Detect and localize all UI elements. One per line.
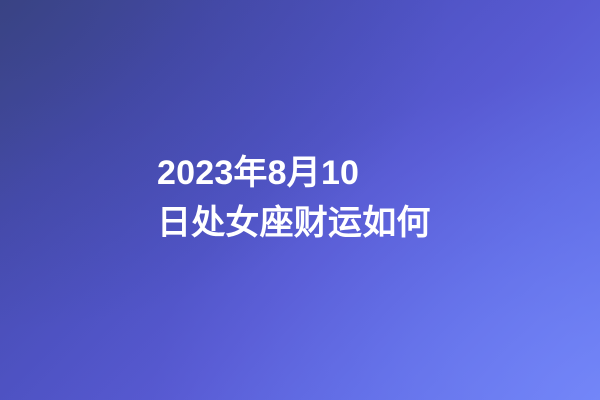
page-title: 2023年8月10 日处女座财运如何 xyxy=(157,148,457,248)
cover-card: 2023年8月10 日处女座财运如何 xyxy=(0,0,600,400)
headline-block: 2023年8月10 日处女座财运如何 xyxy=(157,148,457,248)
